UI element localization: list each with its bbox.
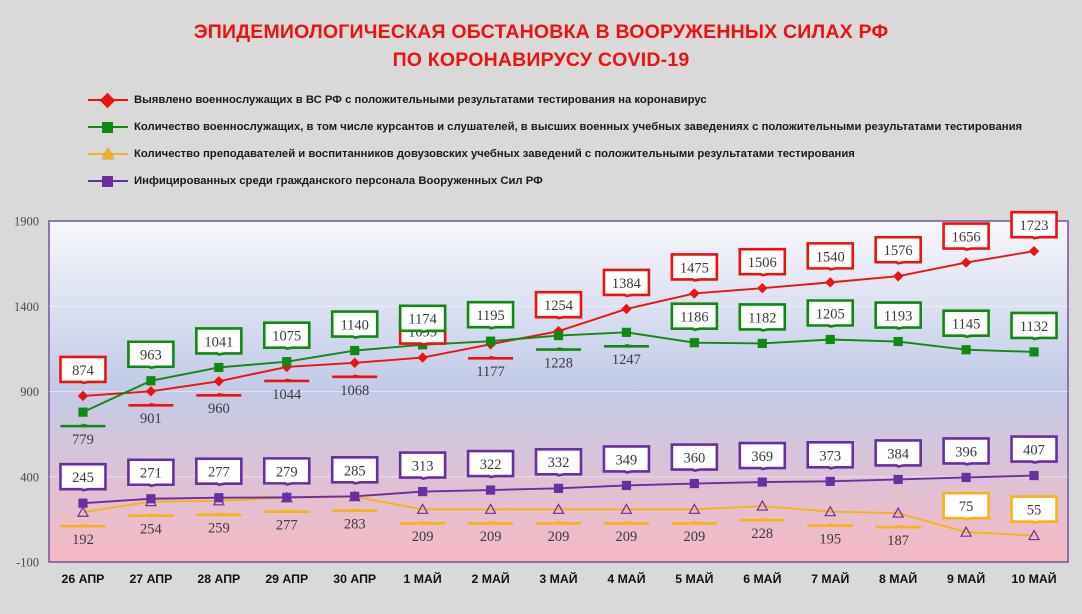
data-label-callout: 322 [468, 451, 513, 477]
x-axis-tick-label: 29 АПР [265, 572, 308, 586]
data-label-callout: 195 [808, 525, 853, 548]
data-label-callout: 1193 [876, 303, 921, 329]
legend-marker-triangle-icon [88, 147, 128, 161]
data-label-value: 1228 [544, 355, 573, 371]
data-point-marker [146, 386, 156, 396]
data-label-value: 1576 [884, 243, 913, 259]
data-point-marker [554, 504, 564, 513]
legend-label: Инфицированных среди гражданского персон… [134, 175, 543, 187]
data-label-callout: 1205 [808, 300, 853, 326]
data-point-marker [757, 501, 767, 510]
data-label-value: 1145 [952, 317, 980, 333]
data-point-marker [894, 475, 903, 484]
data-label-value: 1099 [408, 324, 437, 340]
data-label-value: 245 [72, 470, 94, 486]
data-label-callout: 1177 [468, 357, 513, 380]
y-axis-tick-label: 1900 [14, 215, 39, 229]
data-label-callout: 279 [264, 458, 309, 484]
legend-marker-square-icon [88, 174, 128, 188]
data-label-value: 1186 [680, 310, 708, 326]
data-point-marker [554, 484, 563, 493]
data-label-value: 277 [208, 465, 230, 481]
data-label-value: 1193 [884, 308, 912, 324]
data-label-callout: 228 [740, 519, 785, 542]
data-point-marker [214, 363, 223, 372]
data-label-callout: 1132 [1012, 313, 1057, 339]
data-label-callout: 1723 [1012, 212, 1057, 238]
data-point-marker [758, 339, 767, 348]
data-label-callout: 1506 [740, 249, 785, 275]
data-point-marker [417, 352, 427, 362]
data-label-callout: 963 [128, 342, 173, 368]
data-label-value: 1205 [816, 306, 845, 322]
data-point-marker [689, 504, 699, 513]
data-label-callout: 407 [1012, 437, 1057, 463]
data-label-value: 1182 [748, 310, 776, 326]
data-point-marker [961, 527, 971, 536]
x-axis-tick-label: 2 МАЙ [471, 571, 509, 586]
data-label-value: 373 [819, 448, 841, 464]
data-label-value: 779 [72, 432, 94, 448]
data-point-marker [894, 337, 903, 346]
data-point-marker [690, 479, 699, 488]
plot-background [49, 221, 1068, 562]
x-axis-tick-label: 7 МАЙ [811, 571, 849, 586]
data-label-callout: 187 [876, 526, 921, 549]
data-label-callout: 1186 [672, 304, 717, 330]
data-label-callout: 75 [944, 493, 989, 519]
data-point-marker [962, 345, 971, 354]
data-point-marker [418, 340, 427, 349]
series-line-4 [83, 476, 1034, 504]
data-point-marker [214, 376, 224, 386]
data-label-callout: 369 [740, 443, 785, 469]
legend-item-1[interactable]: Выявлено военнослужащих в ВС РФ с положи… [88, 86, 1068, 113]
x-axis-tick-label: 6 МАЙ [743, 571, 781, 586]
data-label-callout: 960 [196, 394, 241, 417]
data-point-marker [486, 485, 495, 494]
data-point-marker [282, 357, 291, 366]
data-label-callout: 245 [60, 464, 105, 490]
data-label-callout: 1475 [672, 254, 717, 280]
data-label-callout: 283 [332, 510, 377, 533]
data-point-marker [690, 338, 699, 347]
data-point-marker [826, 335, 835, 344]
data-label-callout: 209 [468, 522, 513, 545]
data-label-callout: 1099 [400, 319, 445, 345]
data-point-marker [1029, 246, 1039, 256]
data-label-value: 283 [344, 517, 366, 533]
data-point-marker [1029, 471, 1038, 480]
data-label-value: 1540 [816, 249, 845, 265]
data-point-marker [893, 508, 903, 517]
data-label-value: 1656 [952, 230, 981, 246]
data-label-callout: 1068 [332, 376, 377, 399]
data-point-marker [962, 473, 971, 482]
data-label-value: 332 [548, 455, 570, 471]
data-label-value: 1506 [748, 255, 777, 271]
data-point-marker [621, 504, 631, 513]
data-point-marker [214, 496, 224, 505]
data-label-value: 279 [276, 464, 298, 480]
legend-label: Количество преподавателей и воспитаннико… [134, 148, 855, 160]
data-label-value: 360 [683, 450, 705, 466]
data-point-marker [486, 337, 495, 346]
data-point-marker [78, 391, 88, 401]
data-point-marker [757, 283, 767, 293]
data-point-marker [1029, 531, 1039, 540]
data-label-callout: 1044 [264, 380, 309, 403]
data-point-marker [689, 288, 699, 298]
page-title: ЭПИДЕМИОЛОГИЧЕСКАЯ ОБСТАНОВКА В ВООРУЖЕН… [0, 0, 1082, 75]
data-label-value: 1723 [1020, 218, 1049, 234]
data-label-callout: 901 [128, 404, 173, 427]
data-label-value: 55 [1027, 502, 1042, 518]
data-point-marker [418, 487, 427, 496]
x-axis-tick-label: 1 МАЙ [404, 571, 442, 586]
data-label-callout: 1228 [536, 349, 581, 372]
data-label-callout: 1656 [944, 224, 989, 250]
x-axis-tick-label: 27 АПР [129, 572, 172, 586]
data-label-value: 1075 [272, 329, 301, 345]
data-label-value: 192 [72, 532, 94, 548]
title-line-1: ЭПИДЕМИОЛОГИЧЕСКАЯ ОБСТАНОВКА В ВООРУЖЕН… [0, 18, 1082, 46]
data-point-marker [485, 339, 495, 349]
data-point-marker [825, 507, 835, 516]
y-axis-tick-label: 400 [20, 470, 39, 484]
data-point-marker [961, 257, 971, 267]
data-point-marker [826, 477, 835, 486]
data-label-value: 369 [751, 449, 773, 465]
data-label-callout: 1247 [604, 345, 649, 368]
legend-marker-square-icon [88, 120, 128, 134]
data-label-callout: 349 [604, 446, 649, 472]
y-axis-tick-label: 900 [20, 385, 39, 399]
data-point-marker [282, 493, 291, 502]
data-label-value: 322 [480, 457, 502, 473]
data-label-value: 901 [140, 411, 162, 427]
data-label-value: 209 [683, 529, 705, 545]
data-label-callout: 277 [196, 459, 241, 485]
data-label-value: 963 [140, 348, 162, 364]
data-point-marker [418, 504, 428, 513]
data-point-marker [1029, 347, 1038, 356]
data-label-value: 1068 [340, 383, 369, 399]
data-label-callout: 55 [1012, 497, 1057, 523]
data-label-value: 1140 [340, 317, 368, 333]
data-label-value: 1195 [476, 308, 504, 324]
data-point-marker [758, 477, 767, 486]
data-label-callout: 332 [536, 449, 581, 475]
data-label-value: 1174 [408, 312, 437, 328]
data-label-callout: 360 [672, 445, 717, 471]
data-point-marker [78, 408, 87, 417]
data-label-value: 187 [887, 533, 909, 549]
data-label-callout: 373 [808, 442, 853, 468]
data-point-marker [282, 493, 292, 502]
legend-item-4[interactable]: Инфицированных среди гражданского персон… [88, 167, 1068, 194]
data-label-callout: 254 [128, 515, 173, 538]
x-axis-tick-label: 8 МАЙ [879, 571, 917, 586]
x-axis-tick-label: 30 АПР [333, 572, 376, 586]
y-axis-tick-label: -100 [16, 556, 39, 570]
data-label-callout: 313 [400, 453, 445, 479]
data-label-value: 396 [955, 444, 977, 460]
data-point-marker [350, 346, 359, 355]
series-line-2 [83, 332, 1034, 412]
data-label-callout: 277 [264, 511, 309, 534]
x-axis-tick-label: 10 МАЙ [1012, 571, 1057, 586]
data-label-value: 1475 [680, 260, 709, 276]
data-label-callout: 209 [536, 522, 581, 545]
data-point-marker [893, 271, 903, 281]
data-label-callout: 1145 [944, 311, 989, 337]
data-point-marker [78, 507, 88, 516]
data-label-callout: 192 [60, 525, 105, 548]
data-label-callout: 1384 [604, 270, 649, 296]
data-label-value: 313 [412, 458, 434, 474]
data-label-callout: 209 [400, 522, 445, 545]
data-label-value: 1247 [612, 352, 641, 368]
data-label-callout: 209 [672, 522, 717, 545]
data-point-marker [350, 492, 359, 501]
data-label-value: 75 [959, 499, 974, 515]
data-label-callout: 1174 [400, 306, 445, 332]
data-label-value: 209 [548, 529, 570, 545]
data-point-marker [486, 504, 496, 513]
data-label-value: 209 [480, 529, 502, 545]
data-label-value: 349 [616, 452, 638, 468]
data-point-marker [214, 493, 223, 502]
title-line-2: ПО КОРОНАВИРУСУ COVID-19 [0, 46, 1082, 74]
data-label-value: 960 [208, 401, 230, 417]
x-axis-tick-label: 4 МАЙ [607, 571, 645, 586]
data-label-value: 1384 [612, 276, 642, 292]
data-label-value: 1132 [1020, 319, 1048, 335]
data-label-callout: 285 [332, 457, 377, 483]
data-point-marker [350, 492, 360, 501]
data-label-callout: 1195 [468, 302, 513, 328]
data-label-callout: 1540 [808, 243, 853, 269]
data-point-marker [825, 277, 835, 287]
data-label-callout: 779 [60, 425, 105, 448]
data-point-marker [78, 499, 87, 508]
data-point-marker [622, 328, 631, 337]
data-label-callout: 1576 [876, 237, 921, 263]
data-point-marker [350, 358, 360, 368]
y-axis-tick-label: 1400 [14, 300, 39, 314]
data-point-marker [146, 494, 155, 503]
series-line-1 [83, 251, 1034, 396]
data-point-marker [146, 497, 156, 506]
data-label-callout: 1140 [332, 312, 377, 338]
x-axis-tick-label: 28 АПР [197, 572, 240, 586]
data-label-value: 874 [72, 363, 95, 379]
data-label-value: 271 [140, 466, 162, 482]
x-axis-tick-label: 26 АПР [62, 572, 105, 586]
x-axis-tick-label: 5 МАЙ [675, 571, 713, 586]
data-label-value: 1254 [544, 298, 574, 314]
data-label-value: 195 [819, 532, 841, 548]
x-axis-tick-label: 3 МАЙ [539, 571, 577, 586]
legend-item-3[interactable]: Количество преподавателей и воспитаннико… [88, 140, 1068, 167]
series-line-3 [83, 497, 1034, 536]
data-label-callout: 396 [944, 438, 989, 464]
data-label-value: 259 [208, 521, 230, 537]
data-label-value: 209 [616, 529, 638, 545]
data-label-callout: 1075 [264, 323, 309, 349]
data-label-callout: 874 [60, 357, 105, 383]
chart-legend: Выявлено военнослужащих в ВС РФ с положи… [88, 86, 1068, 194]
data-label-value: 254 [140, 522, 163, 538]
data-label-value: 1044 [272, 387, 302, 403]
data-label-value: 277 [276, 518, 298, 534]
data-label-callout: 1041 [196, 328, 241, 354]
data-label-value: 209 [412, 529, 434, 545]
data-label-value: 384 [887, 446, 910, 462]
data-point-marker [554, 331, 563, 340]
data-label-value: 285 [344, 463, 366, 479]
data-point-marker [146, 376, 155, 385]
data-point-marker [553, 326, 563, 336]
data-point-marker [622, 481, 631, 490]
legend-item-2[interactable]: Количество военнослужащих, в том числе к… [88, 113, 1068, 140]
legend-marker-diamond-icon [88, 93, 128, 107]
data-label-value: 1177 [476, 364, 504, 380]
data-label-callout: 1254 [536, 292, 581, 318]
data-label-value: 1041 [204, 334, 233, 350]
data-label-callout: 209 [604, 522, 649, 545]
data-label-callout: 384 [876, 440, 921, 466]
data-point-marker [621, 304, 631, 314]
data-label-callout: 259 [196, 514, 241, 537]
data-point-marker [282, 362, 292, 372]
data-label-value: 407 [1023, 442, 1045, 458]
data-label-callout: 1182 [740, 304, 785, 330]
legend-label: Количество военнослужащих, в том числе к… [134, 121, 1022, 133]
data-label-callout: 271 [128, 460, 173, 486]
data-label-value: 228 [751, 526, 773, 542]
x-axis-tick-label: 9 МАЙ [947, 571, 985, 586]
legend-label: Выявлено военнослужащих в ВС РФ с положи… [134, 94, 707, 106]
